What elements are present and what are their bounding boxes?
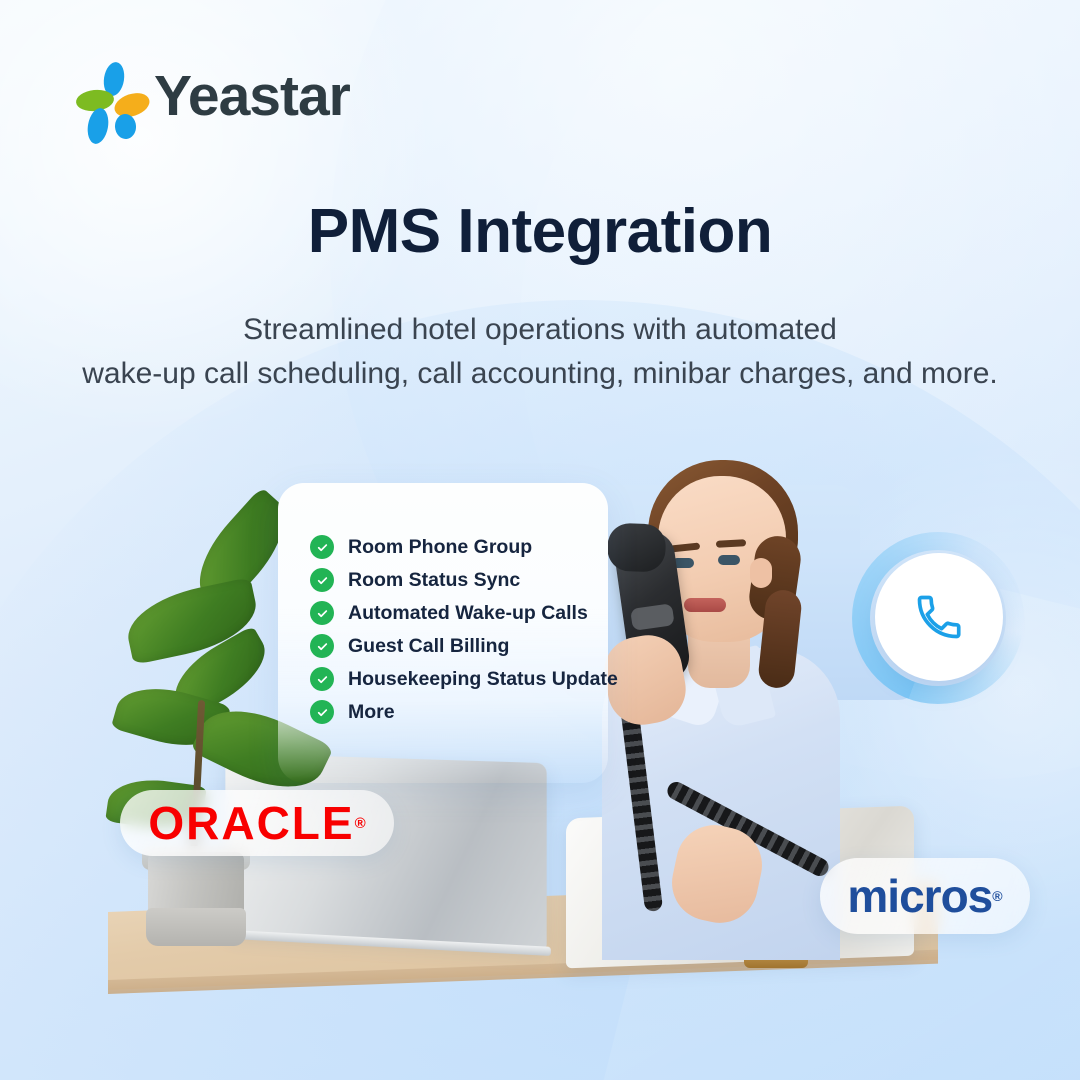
feature-label: Automated Wake-up Calls [348, 602, 588, 625]
check-circle-icon [310, 535, 334, 559]
phone-handset-icon [913, 591, 965, 643]
micros-wordmark: micros [847, 873, 992, 919]
poster-canvas: Yeastar PMS Integration Streamlined hote… [0, 0, 1080, 1080]
brand-logo: Yeastar [78, 62, 350, 130]
feature-label: Room Phone Group [348, 536, 532, 559]
list-item: Room Phone Group [310, 535, 618, 559]
page-title: PMS Integration [0, 196, 1080, 267]
micros-registered-mark: ® [992, 888, 1002, 904]
list-item: Housekeeping Status Update [310, 667, 618, 691]
list-item: Automated Wake-up Calls [310, 601, 618, 625]
check-circle-icon [310, 667, 334, 691]
check-circle-icon [310, 568, 334, 592]
potted-plant [120, 530, 300, 950]
partner-badge-oracle: ORACLE® [120, 790, 394, 856]
feature-card: Room Phone Group Room Status Sync Automa… [278, 483, 608, 783]
list-item: More [310, 700, 618, 724]
subtitle-line-2: wake-up call scheduling, call accounting… [0, 352, 1080, 396]
feature-list: Room Phone Group Room Status Sync Automa… [310, 535, 618, 724]
page-subtitle: Streamlined hotel operations with automa… [0, 308, 1080, 395]
check-circle-icon [310, 700, 334, 724]
feature-label: Housekeeping Status Update [348, 668, 618, 691]
feature-label: Guest Call Billing [348, 635, 509, 658]
feature-label: Room Status Sync [348, 569, 520, 592]
brand-wordmark: Yeastar [154, 68, 350, 125]
check-circle-icon [310, 601, 334, 625]
list-item: Guest Call Billing [310, 634, 618, 658]
feature-label: More [348, 701, 395, 724]
subtitle-line-1: Streamlined hotel operations with automa… [0, 308, 1080, 352]
yeastar-pinwheel-icon [78, 62, 140, 130]
list-item: Room Status Sync [310, 568, 618, 592]
check-circle-icon [310, 634, 334, 658]
hero-scene: Room Phone Group Room Status Sync Automa… [0, 440, 1080, 1080]
oracle-wordmark: ORACLE [148, 800, 354, 846]
oracle-registered-mark: ® [355, 815, 366, 832]
partner-badge-micros: micros® [820, 858, 1030, 934]
phone-badge [875, 553, 1003, 681]
